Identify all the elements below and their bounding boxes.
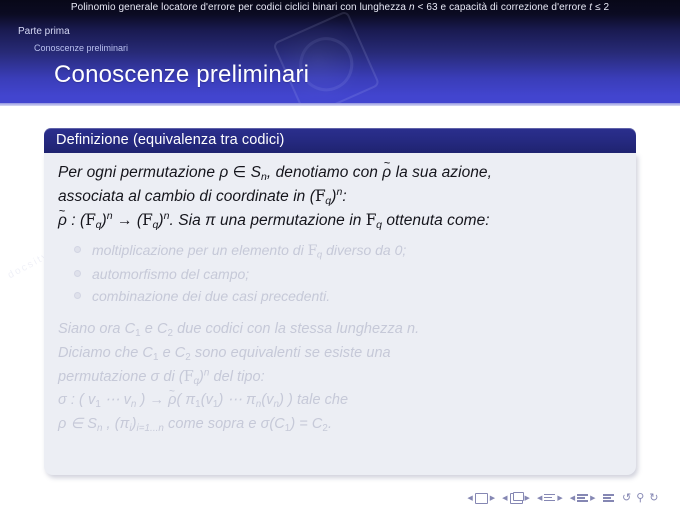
p1-C1: C <box>125 321 136 337</box>
bullet-3-text: combinazione dei due casi precedenti. <box>92 288 330 304</box>
document-title: Polinomio generale locatore d'errore per… <box>0 2 680 13</box>
definition-block: Definizione (equivalenza tra codici) Per… <box>44 128 636 475</box>
search-icon[interactable]: ⚲ <box>636 493 644 504</box>
p5-idx: i=1...n <box>137 423 164 434</box>
p4-a: : ( <box>67 392 88 408</box>
definition-block-title: Definizione (equivalenza tra codici) <box>44 128 636 153</box>
definition-line-1: Per ogni permutazione ρ ∈ Sn, denotiamo … <box>58 162 622 185</box>
p1-c: due codici con la stessa lunghezza n. <box>173 321 419 337</box>
bullet-dot-icon <box>74 270 81 277</box>
def-l1-a: Per ogni permutazione <box>58 164 219 181</box>
def-l3-F1: F <box>85 211 95 229</box>
nav-group-frame[interactable]: ◀ ▶ <box>502 493 530 504</box>
definition-line-3: ρ : (Fq)n → (Fq)n. Sia π una permutazion… <box>58 209 622 233</box>
def-l1-rho-tilde: ρ <box>382 162 391 184</box>
def-l2-F: F <box>315 187 325 205</box>
document-title-rel-n: < 63 <box>415 2 438 13</box>
prev-frame-arrow-icon[interactable]: ◀ <box>502 495 507 502</box>
definition-line-2: associata al cambio di coordinate in (Fq… <box>58 185 622 209</box>
frame-icon[interactable] <box>510 493 523 504</box>
def-l2-a: associata al cambio di coordinate in ( <box>58 188 315 205</box>
next-section-arrow-icon[interactable]: ▶ <box>590 495 595 502</box>
beamer-navigation-bar[interactable]: ◀ ▶ ◀ ▶ ◀ ▶ ◀ ▶ ↺ ⚲ ↻ <box>0 493 680 504</box>
p4-pi1: π <box>185 392 195 408</box>
slide-header-band: docsity Polinomio generale locatore d'er… <box>0 0 680 106</box>
def-l1-d: la sua azione, <box>391 164 492 181</box>
p4-sigma: σ <box>58 392 67 408</box>
nav-group-section[interactable]: ◀ ▶ <box>570 494 596 503</box>
definition-bullet-list: moltiplicazione per un elemento di Fq di… <box>58 239 622 308</box>
def-l1-c: , denotiamo con <box>267 164 382 181</box>
slide-icon[interactable] <box>475 493 488 504</box>
def-l3-f: ottenuta come: <box>382 212 490 229</box>
bullet-dot-icon <box>74 246 81 253</box>
nav-group-presentation[interactable] <box>603 494 614 503</box>
p4-g: ) ) tale che <box>279 392 348 408</box>
p4-e: ) ⋯ <box>218 392 246 408</box>
definition-paragraph: Siano ora C1 e C2 due codici con la stes… <box>58 318 622 437</box>
p5-pi: π <box>120 416 130 432</box>
p1-a: Siano ora <box>58 321 125 337</box>
def-l3-F3: F <box>366 211 376 229</box>
def-l3-d: . Sia <box>170 212 206 229</box>
p5-f: ) = <box>290 416 312 432</box>
bullet-2-text: automorfismo del campo; <box>92 266 249 282</box>
definition-block-body: Per ogni permutazione ρ ∈ Sn, denotiamo … <box>44 153 636 475</box>
back-icon[interactable]: ↺ <box>622 493 631 504</box>
para-line-2: Diciamo che C1 e C2 sono equivalenti se … <box>58 342 622 366</box>
p4-vn: v <box>124 392 131 408</box>
def-l1-rho: ρ <box>219 164 228 181</box>
next-slide-arrow-icon[interactable]: ▶ <box>490 495 495 502</box>
next-subsection-arrow-icon[interactable]: ▶ <box>557 495 562 502</box>
bullet-1-F: F <box>308 243 317 259</box>
breadcrumb-section[interactable]: Conoscenze preliminari <box>34 43 128 53</box>
def-l3-a: : ( <box>67 212 85 229</box>
p4-rho-tilde: ρ <box>168 389 176 411</box>
section-icon[interactable] <box>577 494 588 503</box>
nav-group-subsection[interactable]: ◀ ▶ <box>537 494 563 503</box>
def-l3-pi: π <box>205 212 215 229</box>
p4-b: ) → <box>136 392 168 408</box>
nav-group-slide[interactable]: ◀ ▶ <box>467 493 495 504</box>
p5-a: ∈ <box>66 416 87 432</box>
prev-slide-arrow-icon[interactable]: ◀ <box>467 495 472 502</box>
def-l1-S: S <box>251 164 261 181</box>
p2-a: Diciamo che <box>58 345 142 361</box>
p5-b: , ( <box>102 416 119 432</box>
p5-C2: C <box>312 416 323 432</box>
p5-d: come sopra e <box>164 416 261 432</box>
bullet-1-text-a: moltiplicazione per un elemento di <box>92 242 308 258</box>
para-line-5: ρ ∈ Sn , (πi)i=1...n come sopra e σ(C1) … <box>58 413 622 437</box>
p2-C2: C <box>175 345 186 361</box>
bullet-dot-icon <box>74 292 81 299</box>
p3-F: F <box>184 369 194 385</box>
document-title-pre: Polinomio generale locatore d'errore per… <box>71 2 409 13</box>
nav-group-history[interactable]: ↺ ⚲ ↻ <box>621 493 661 504</box>
p3-d: del tipo: <box>209 369 264 385</box>
p5-C1: C <box>274 416 285 432</box>
p1-C2: C <box>157 321 168 337</box>
prev-subsection-arrow-icon[interactable]: ◀ <box>537 495 542 502</box>
p4-v2: v <box>206 392 213 408</box>
para-line-1: Siano ora C1 e C2 due codici con la stes… <box>58 318 622 342</box>
document-title-rel-t: ≤ 2 <box>592 2 609 13</box>
document-title-mid: e capacità di correzione d'errore <box>438 2 590 13</box>
def-l3-arrow: → ( <box>113 212 142 229</box>
list-item: moltiplicazione per un elemento di Fq di… <box>92 239 622 263</box>
subsection-icon[interactable] <box>544 494 555 503</box>
p2-C1: C <box>142 345 153 361</box>
p4-dots1: ⋯ <box>101 392 124 408</box>
list-item: combinazione dei due casi precedenti. <box>92 285 622 308</box>
bullet-1-text-b: diverso da 0; <box>322 242 406 258</box>
def-l1-in: ∈ <box>228 164 250 181</box>
breadcrumb-part[interactable]: Parte prima <box>18 26 70 37</box>
p2-b: e <box>158 345 174 361</box>
p5-S: S <box>87 416 97 432</box>
def-l3-F2: F <box>142 211 152 229</box>
para-line-4: σ : ( v1 ⋯ vn ) → ρ( π1(v1) ⋯ πn(vn) ) t… <box>58 389 622 413</box>
def-l3-e: una permutazione in <box>216 212 366 229</box>
prev-section-arrow-icon[interactable]: ◀ <box>570 495 575 502</box>
para-line-3: permutazione σ di (Fq)n del tipo: <box>58 366 622 390</box>
p5-g: . <box>328 416 332 432</box>
list-item: automorfismo del campo; <box>92 263 622 286</box>
p3-a: permutazione <box>58 369 151 385</box>
background-watermark-icon: docsity <box>261 0 419 106</box>
def-l2-c: : <box>342 188 346 205</box>
next-frame-arrow-icon[interactable]: ▶ <box>525 495 530 502</box>
p1-b: e <box>141 321 157 337</box>
p4-pin: π <box>246 392 256 408</box>
presentation-icon[interactable] <box>603 494 614 503</box>
p4-vn2: v <box>266 392 273 408</box>
forward-icon[interactable]: ↻ <box>649 493 658 504</box>
def-l3-rho-tilde: ρ <box>58 210 67 232</box>
p2-c: sono equivalenti se esiste una <box>191 345 391 361</box>
page-title: Conoscenze preliminari <box>54 61 309 89</box>
